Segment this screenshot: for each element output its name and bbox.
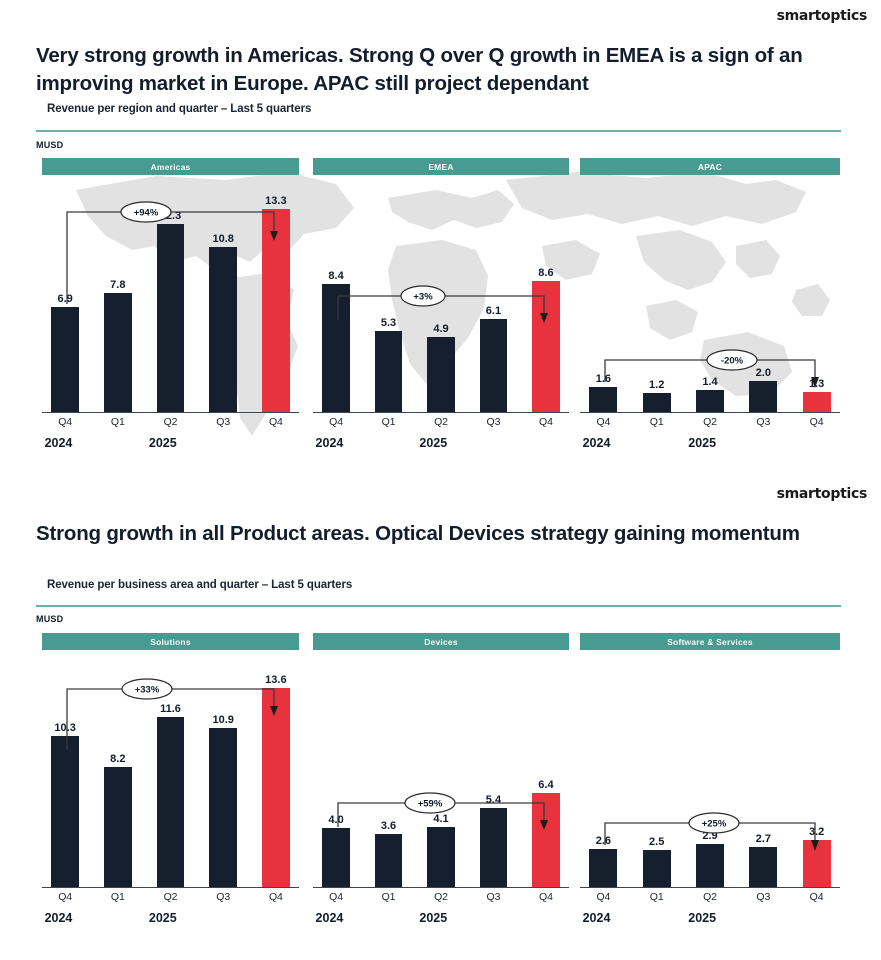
bar-value: 1.2 — [649, 380, 664, 391]
bar-group[interactable]: 1.2 — [633, 176, 680, 412]
x-tick: Q4 — [523, 416, 569, 428]
bar-highlighted[interactable] — [532, 793, 560, 886]
x-tick-labels-emea: Q4 Q1 Q2 Q3 Q4 — [313, 416, 569, 428]
chart-title-devices: Devices — [313, 633, 569, 650]
unit-label: MUSD — [36, 140, 63, 150]
x-tick: Q1 — [633, 891, 680, 903]
smartoptics-logo: smartoptics — [777, 8, 867, 24]
x-tick: Q1 — [365, 416, 411, 428]
bar-value: 2.9 — [702, 831, 717, 842]
x-tick-labels-solutions: Q4 Q1 Q2 Q3 Q4 — [42, 891, 299, 903]
bars-emea: 8.4 5.3 4.9 6.1 8.6 — [313, 176, 569, 412]
x-axis-line — [42, 412, 299, 413]
chart-title-software-services: Software & Services — [580, 633, 840, 650]
x-tick: Q1 — [95, 416, 141, 428]
chart-title-solutions: Solutions — [42, 633, 299, 650]
bar-value: 6.1 — [486, 306, 501, 317]
bar-value: 6.4 — [538, 780, 553, 791]
year-label: 2024 — [45, 436, 73, 450]
chart-apac: APAC 1.6 1.2 1.4 2.0 1.3 -20% — [580, 158, 840, 468]
bar-value: 2.6 — [596, 836, 611, 847]
bar-value: 10.9 — [212, 715, 233, 726]
bar-value: 8.2 — [110, 754, 125, 765]
x-axis-line — [313, 412, 569, 413]
x-tick-labels-americas: Q4 Q1 Q2 Q3 Q4 — [42, 416, 299, 428]
x-tick: Q4 — [523, 891, 569, 903]
x-tick: Q3 — [200, 891, 246, 903]
x-tick-labels-apac: Q4 Q1 Q2 Q3 Q4 — [580, 416, 840, 428]
bar[interactable] — [480, 319, 508, 412]
bar-group[interactable]: 1.4 — [687, 176, 734, 412]
bar-group[interactable]: 1.3 — [793, 176, 840, 412]
bar-highlighted[interactable] — [803, 392, 831, 412]
year-label: 2024 — [316, 911, 344, 925]
smartoptics-logo: smartoptics — [777, 486, 867, 502]
plot-area-devices: 4.0 3.6 4.1 5.4 6.4 +59% — [313, 650, 569, 888]
bar-group[interactable]: 8.6 — [523, 176, 569, 412]
x-tick: Q2 — [147, 891, 193, 903]
page-title: Strong growth in all Product areas. Opti… — [36, 520, 836, 548]
bars-solutions: 10.3 8.2 11.6 10.9 13.6 — [42, 651, 299, 887]
bar-value: 10.3 — [54, 723, 75, 734]
bar-value: 10.8 — [212, 234, 233, 245]
x-tick: Q4 — [580, 891, 627, 903]
bar-group[interactable]: 8.4 — [313, 176, 359, 412]
year-label: 2024 — [583, 436, 611, 450]
x-tick: Q3 — [200, 416, 246, 428]
x-tick: Q4 — [253, 891, 299, 903]
x-tick-labels-software-services: Q4 Q1 Q2 Q3 Q4 — [580, 891, 840, 903]
x-axis-line — [42, 887, 299, 888]
year-label: 2025 — [149, 911, 177, 925]
bar-group[interactable]: 7.8 — [95, 176, 141, 412]
bar-value: 5.4 — [486, 795, 501, 806]
x-tick: Q3 — [740, 416, 787, 428]
bar-value: 4.1 — [433, 814, 448, 825]
bar[interactable] — [427, 827, 455, 887]
bar[interactable] — [375, 834, 403, 886]
bar[interactable] — [696, 844, 724, 886]
bar[interactable] — [696, 390, 724, 411]
bar-value: 7.8 — [110, 280, 125, 291]
x-tick: Q2 — [418, 891, 464, 903]
bar-group[interactable]: 6.1 — [470, 176, 516, 412]
bar-value: 3.6 — [381, 821, 396, 832]
x-tick: Q2 — [147, 416, 193, 428]
bar-group[interactable]: 6.4 — [523, 651, 569, 887]
x-tick: Q1 — [633, 416, 680, 428]
x-tick: Q1 — [365, 891, 411, 903]
x-tick: Q3 — [740, 891, 787, 903]
year-label: 2025 — [149, 436, 177, 450]
bar-highlighted[interactable] — [262, 209, 290, 411]
bar-group[interactable]: 2.5 — [633, 651, 680, 887]
bar-value: 2.7 — [756, 834, 771, 845]
x-tick: Q4 — [42, 891, 88, 903]
bar-value: 8.4 — [328, 271, 343, 282]
bar-group[interactable]: 2.6 — [580, 651, 627, 887]
bar-group[interactable]: 13.3 — [253, 176, 299, 412]
bar-group[interactable]: 3.2 — [793, 651, 840, 887]
bar[interactable] — [322, 828, 350, 886]
x-tick: Q3 — [470, 891, 516, 903]
bar-group[interactable]: 8.2 — [95, 651, 141, 887]
bar[interactable] — [749, 381, 777, 411]
bar-group[interactable]: 2.7 — [740, 651, 787, 887]
bar[interactable] — [209, 728, 237, 887]
slide-revenue-per-business-area: smartoptics Strong growth in all Product… — [0, 478, 881, 960]
x-tick: Q1 — [95, 891, 141, 903]
year-label: 2024 — [45, 911, 73, 925]
bar[interactable] — [51, 736, 79, 886]
bar[interactable] — [643, 850, 671, 887]
year-label: 2025 — [419, 436, 447, 450]
unit-label: MUSD — [36, 614, 63, 624]
slide-revenue-per-region: smartoptics Very strong growth in Americ… — [0, 0, 881, 478]
region-charts-row: Americas 6.9 7.8 12.3 10.8 13.3 +94% — [0, 158, 881, 468]
bar-value: 8.6 — [538, 268, 553, 279]
plot-area-software-services: 2.6 2.5 2.9 2.7 3.2 +25% — [580, 650, 840, 888]
bar-value: 1.6 — [596, 374, 611, 385]
title-divider — [36, 130, 841, 132]
bar-highlighted[interactable] — [262, 688, 290, 886]
bar[interactable] — [749, 847, 777, 886]
bars-devices: 4.0 3.6 4.1 5.4 6.4 — [313, 651, 569, 887]
bars-americas: 6.9 7.8 12.3 10.8 13.3 — [42, 176, 299, 412]
bar-value: 1.4 — [702, 377, 717, 388]
bar-group[interactable]: 5.4 — [470, 651, 516, 887]
bar-group[interactable]: 11.6 — [147, 651, 193, 887]
x-tick: Q4 — [313, 891, 359, 903]
bar[interactable] — [104, 767, 132, 887]
x-tick: Q3 — [470, 416, 516, 428]
x-tick: Q4 — [42, 416, 88, 428]
bars-apac: 1.6 1.2 1.4 2.0 1.3 — [580, 176, 840, 412]
bar-highlighted[interactable] — [532, 281, 560, 412]
chart-devices: Devices 4.0 3.6 4.1 5.4 6.4 +59% — [313, 633, 569, 943]
plot-area-emea: 8.4 5.3 4.9 6.1 8.6 +3% — [313, 175, 569, 413]
bar-value: 11.6 — [160, 704, 181, 715]
x-tick: Q4 — [793, 891, 840, 903]
x-tick-labels-devices: Q4 Q1 Q2 Q3 Q4 — [313, 891, 569, 903]
chart-title-americas: Americas — [42, 158, 299, 175]
bar-group[interactable]: 6.9 — [42, 176, 88, 412]
chart-americas: Americas 6.9 7.8 12.3 10.8 13.3 +94% — [42, 158, 299, 468]
x-axis-line — [580, 887, 840, 888]
bars-software-services: 2.6 2.5 2.9 2.7 3.2 — [580, 651, 840, 887]
plot-area-apac: 1.6 1.2 1.4 2.0 1.3 -20% — [580, 175, 840, 413]
bar-group[interactable]: 2.0 — [740, 176, 787, 412]
bar[interactable] — [157, 224, 185, 411]
bar-group[interactable]: 4.9 — [418, 176, 464, 412]
business-area-charts-row: Solutions 10.3 8.2 11.6 10.9 13.6 +33% — [0, 633, 881, 943]
bar-value: 13.3 — [265, 196, 286, 207]
bar-value: 1.3 — [809, 379, 824, 390]
chart-title-emea: EMEA — [313, 158, 569, 175]
x-tick: Q4 — [793, 416, 840, 428]
bar-group[interactable]: 12.3 — [147, 176, 193, 412]
bar[interactable] — [209, 247, 237, 411]
bar[interactable] — [157, 717, 185, 886]
bar-value: 6.9 — [57, 294, 72, 305]
plot-area-americas: 6.9 7.8 12.3 10.8 13.3 +94% — [42, 175, 299, 413]
bar[interactable] — [51, 307, 79, 412]
bar-group[interactable]: 5.3 — [365, 176, 411, 412]
bar[interactable] — [104, 293, 132, 412]
year-label: 2025 — [419, 911, 447, 925]
x-axis-line — [313, 887, 569, 888]
x-tick: Q4 — [313, 416, 359, 428]
bar-group[interactable]: 1.6 — [580, 176, 627, 412]
x-tick: Q2 — [687, 416, 734, 428]
bar-value: 5.3 — [381, 318, 396, 329]
year-label: 2024 — [316, 436, 344, 450]
x-axis-line — [580, 412, 840, 413]
title-divider — [36, 605, 841, 607]
chart-solutions: Solutions 10.3 8.2 11.6 10.9 13.6 +33% — [42, 633, 299, 943]
bar-group[interactable]: 10.9 — [200, 651, 246, 887]
chart-subtitle: Revenue per business area and quarter – … — [47, 579, 352, 591]
bar-group[interactable]: 4.0 — [313, 651, 359, 887]
plot-area-solutions: 10.3 8.2 11.6 10.9 13.6 +33% — [42, 650, 299, 888]
x-tick: Q4 — [253, 416, 299, 428]
bar-group[interactable]: 10.3 — [42, 651, 88, 887]
bar-value: 2.0 — [756, 368, 771, 379]
chart-software-services: Software & Services 2.6 2.5 2.9 2.7 3.2 … — [580, 633, 840, 943]
bar-group[interactable]: 4.1 — [418, 651, 464, 887]
bar[interactable] — [589, 849, 617, 887]
page-title: Very strong growth in Americas. Strong Q… — [36, 42, 836, 98]
bar-group[interactable]: 10.8 — [200, 176, 246, 412]
bar-group[interactable]: 2.9 — [687, 651, 734, 887]
bar-group[interactable]: 3.6 — [365, 651, 411, 887]
bar[interactable] — [643, 393, 671, 411]
year-label: 2024 — [583, 911, 611, 925]
x-tick: Q4 — [580, 416, 627, 428]
bar-group[interactable]: 13.6 — [253, 651, 299, 887]
bar[interactable] — [427, 337, 455, 412]
bar-value: 13.6 — [265, 675, 286, 686]
year-label: 2025 — [688, 911, 716, 925]
bar[interactable] — [375, 331, 403, 412]
bar-value: 3.2 — [809, 827, 824, 838]
bar-value: 4.9 — [433, 324, 448, 335]
bar[interactable] — [322, 284, 350, 412]
chart-title-apac: APAC — [580, 158, 840, 175]
bar[interactable] — [589, 387, 617, 411]
chart-subtitle: Revenue per region and quarter – Last 5 … — [47, 103, 311, 115]
bar-value: 4.0 — [328, 815, 343, 826]
bar-value: 2.5 — [649, 837, 664, 848]
x-tick: Q2 — [687, 891, 734, 903]
x-tick: Q2 — [418, 416, 464, 428]
bar-highlighted[interactable] — [803, 840, 831, 887]
chart-emea: EMEA 8.4 5.3 4.9 6.1 8.6 +3% — [313, 158, 569, 468]
year-label: 2025 — [688, 436, 716, 450]
bar-value: 12.3 — [160, 211, 181, 222]
bar[interactable] — [480, 808, 508, 887]
